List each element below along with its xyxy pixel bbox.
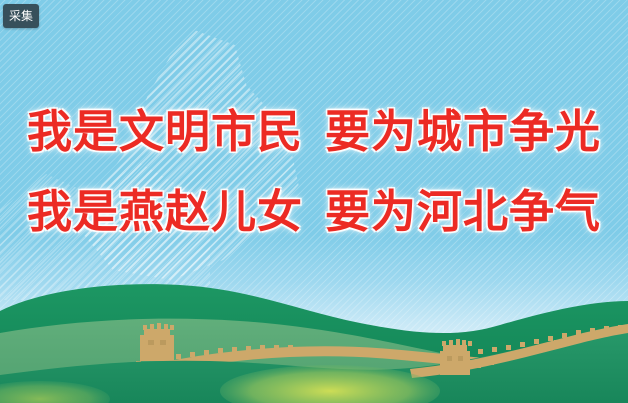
- slogan-line-2-left: 我是燕赵儿女: [27, 185, 303, 238]
- poster-image: 我是文明市民要为城市争光 我是燕赵儿女要为河北争气 采集: [0, 0, 628, 403]
- slogan-block: 我是文明市民要为城市争光 我是燕赵儿女要为河北争气: [0, 92, 628, 252]
- slogan-line-1-left: 我是文明市民: [27, 105, 303, 158]
- slogan-line-2: 我是燕赵儿女要为河北争气: [0, 172, 628, 252]
- landscape-illustration: [0, 263, 628, 403]
- slogan-line-1-right: 要为城市争光: [325, 105, 601, 158]
- slogan-line-1: 我是文明市民要为城市争光: [0, 92, 628, 172]
- capture-button[interactable]: 采集: [3, 4, 39, 28]
- slogan-line-2-right: 要为河北争气: [325, 185, 601, 238]
